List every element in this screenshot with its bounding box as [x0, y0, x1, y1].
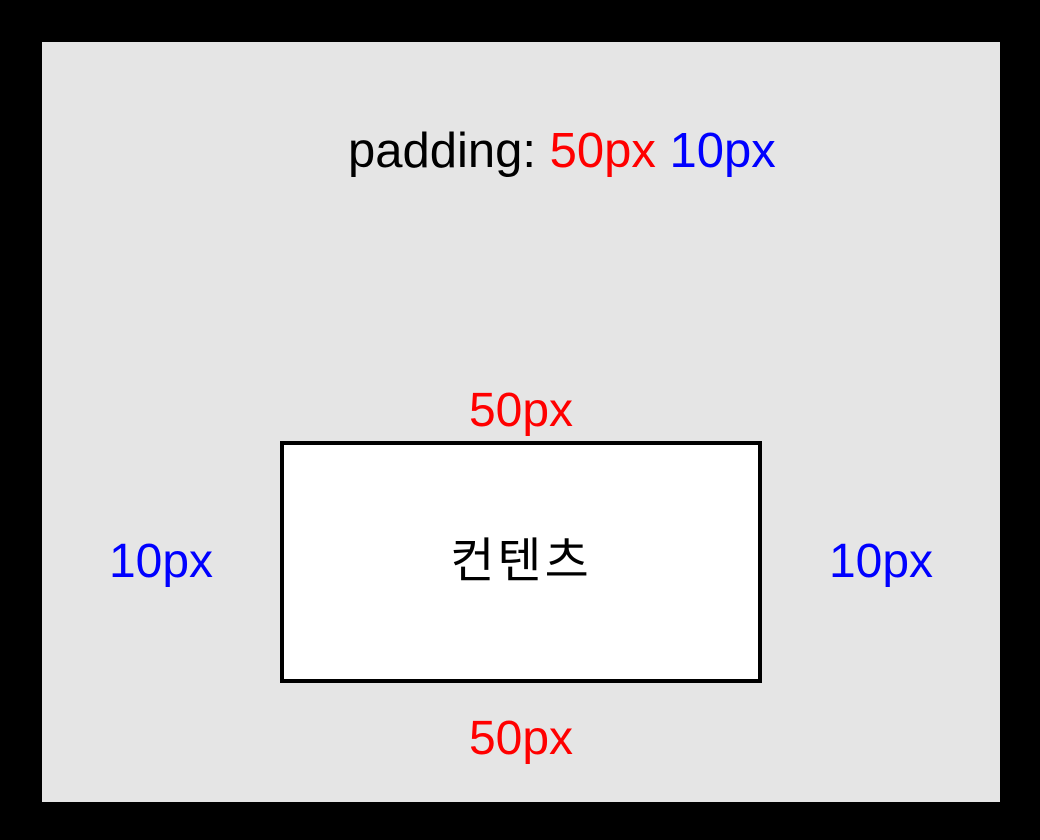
- padding-vertical-value: 50px: [550, 124, 656, 178]
- padding-left-measure-label: 10px: [42, 538, 280, 586]
- padding-declaration-text: padding: 50px 10px: [42, 78, 1000, 225]
- declaration-space-2: [656, 124, 670, 178]
- padding-right-measure-label: 10px: [762, 538, 1000, 586]
- content-box: 컨텐츠: [280, 441, 762, 683]
- css-property-name: padding:: [348, 124, 536, 178]
- padding-box-region: padding: 50px 10px 50px 10px 컨텐츠 10px 50…: [42, 42, 1000, 802]
- padding-horizontal-value: 10px: [669, 124, 775, 178]
- diagram-canvas: padding: 50px 10px 50px 10px 컨텐츠 10px 50…: [0, 0, 1040, 840]
- padding-bottom-measure-label: 50px: [280, 715, 762, 763]
- padding-top-measure-label: 50px: [280, 387, 762, 435]
- content-box-label: 컨텐츠: [450, 538, 591, 586]
- declaration-space-1: [536, 124, 550, 178]
